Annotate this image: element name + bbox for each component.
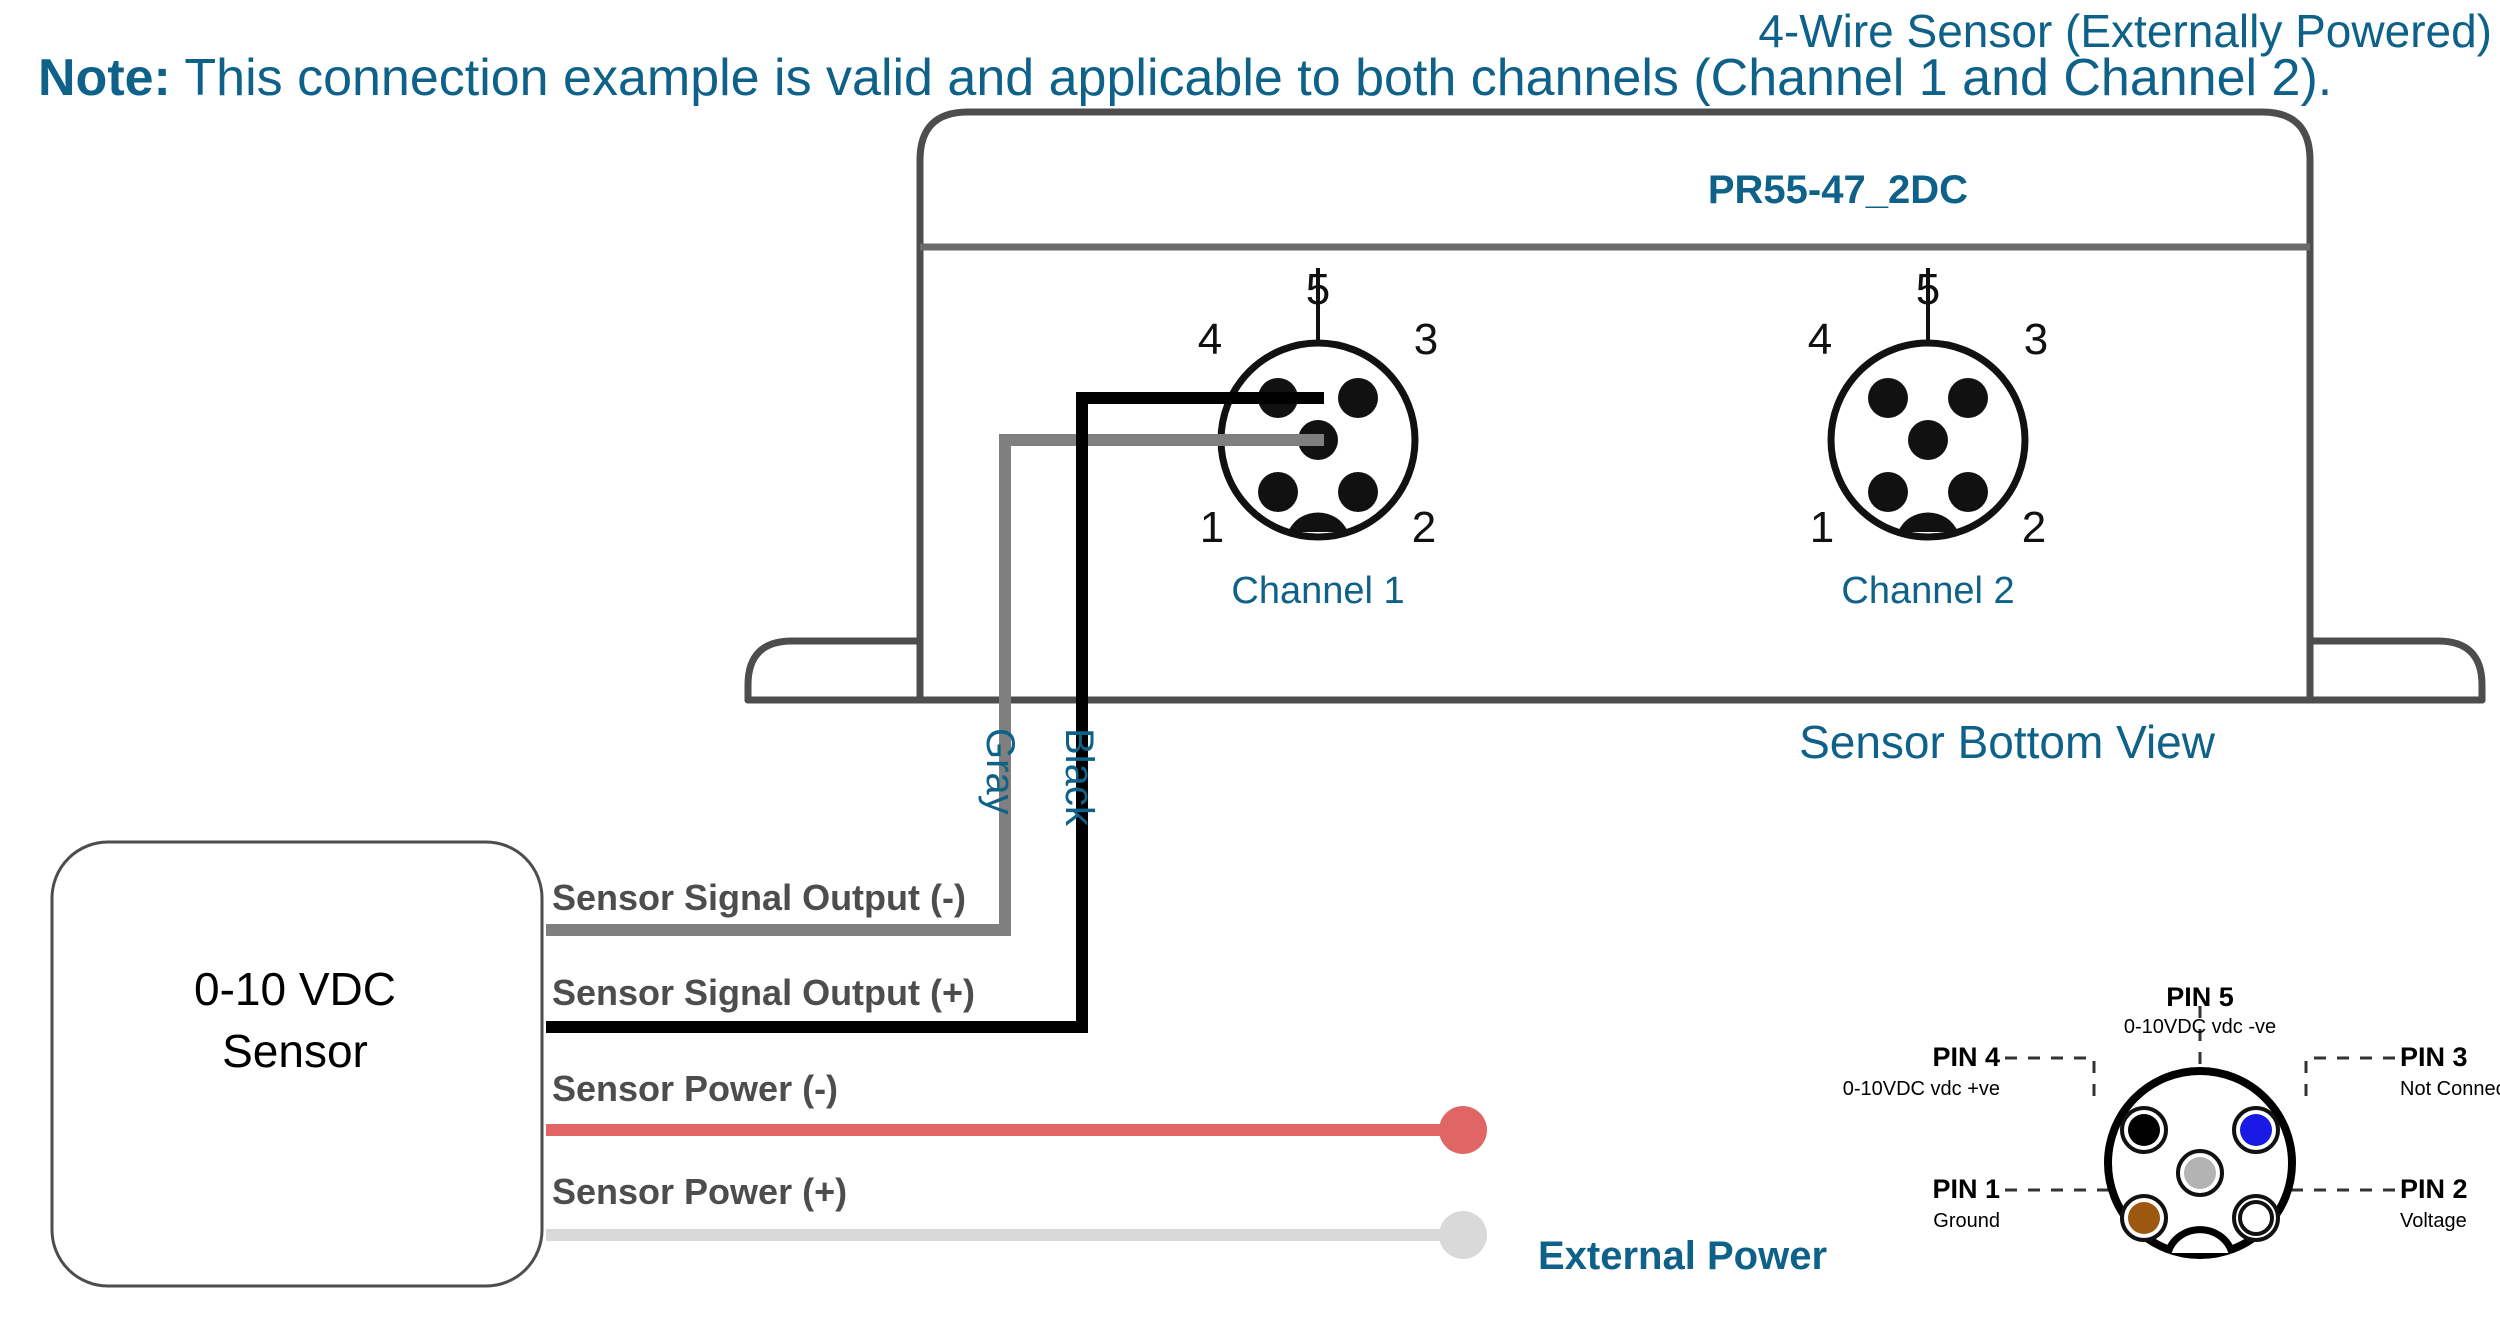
ch2-pin-5	[1908, 420, 1948, 460]
wire-label-power-negative: Sensor Power (-)	[552, 1068, 838, 1110]
legend-title-pin3: PIN 3	[2400, 1042, 2468, 1073]
legend-socket-pin2	[2240, 1202, 2272, 1234]
legend-subtitle-pin2: Voltage	[2400, 1210, 2467, 1233]
legend-socket-pin1	[2128, 1202, 2160, 1234]
ch1-pin-label-2: 2	[1412, 503, 1436, 553]
ch2-pin-label-5: 5	[1916, 265, 1940, 315]
ch2-pin-label-2: 2	[2022, 503, 2046, 553]
pin-legend-connector	[2005, 1006, 2395, 1255]
external-power-title: External Power	[1538, 1231, 1827, 1281]
legend-subtitle-pin3: Not Connected	[2400, 1078, 2500, 1101]
ch1-pin-label-4: 4	[1198, 315, 1222, 365]
ch2-pin-label-3: 3	[2024, 315, 2048, 365]
ch1-pin-2	[1338, 472, 1378, 512]
ch2-pin-2	[1948, 472, 1988, 512]
wiring-diagram-canvas: Note: This connection example is valid a…	[0, 0, 2500, 1318]
sensor-box-line-1: 0-10 VDC	[194, 963, 396, 1015]
note-block: Note: This connection example is valid a…	[38, 42, 828, 115]
ch2-pin-1	[1868, 472, 1908, 512]
channel-2-caption: Channel 2	[1841, 570, 2014, 613]
legend-title-pin4: PIN 4	[1932, 1042, 2000, 1073]
legend-socket-pin3	[2240, 1114, 2272, 1146]
legend-subtitle-pin5: 0-10VDC vdc -ve	[2124, 1016, 2276, 1039]
external-power-label: External Power (VDC Sensor)	[1538, 1131, 1827, 1318]
diagram-graphics	[0, 0, 2500, 1318]
ch1-pin-label-5: 5	[1306, 265, 1330, 315]
ch1-pin-label-3: 3	[1414, 315, 1438, 365]
wire-label-power-positive: Sensor Power (+)	[552, 1171, 847, 1213]
ch2-pin-4	[1868, 378, 1908, 418]
ch2-pin-label-4: 4	[1808, 315, 1832, 365]
legend-subtitle-pin1: Ground	[1933, 1210, 2000, 1233]
terminal-dot-power-positive[interactable]	[1439, 1211, 1487, 1259]
legend-title-pin2: PIN 2	[2400, 1174, 2468, 1205]
terminal-dot-power-negative[interactable]	[1439, 1106, 1487, 1154]
channel-1-caption: Channel 1	[1231, 570, 1404, 613]
page-title: 4-Wire Sensor (Externally Powered)	[1758, 4, 2492, 58]
legend-subtitle-pin4: 0-10VDC vdc +ve	[1843, 1078, 2000, 1101]
wire-label-signal-negative: Sensor Signal Output (-)	[552, 877, 966, 919]
ch2-pin-3	[1948, 378, 1988, 418]
device-model-label: PR55-47_2DC	[1708, 168, 1968, 213]
wire-label-signal-positive: Sensor Signal Output (+)	[552, 972, 975, 1014]
ch1-pin-label-1: 1	[1200, 503, 1224, 553]
sensor-bottom-view-label: Sensor Bottom View	[1799, 715, 2215, 769]
wire-name-gray: Gray	[977, 728, 1022, 815]
ch1-pin-1	[1258, 472, 1298, 512]
legend-socket-pin5	[2184, 1157, 2216, 1189]
wire-name-black: Black	[1056, 728, 1101, 826]
note-lead: Note:	[38, 49, 171, 107]
legend-title-pin5: PIN 5	[2166, 982, 2234, 1013]
sensor-box-line-2: Sensor	[222, 1025, 368, 1077]
ch1-pin-3	[1338, 378, 1378, 418]
sensor-box-label: 0-10 VDCSensor	[194, 958, 396, 1082]
legend-socket-pin4	[2128, 1114, 2160, 1146]
legend-title-pin1: PIN 1	[1932, 1174, 2000, 1205]
ch2-pin-label-1: 1	[1810, 503, 1834, 553]
